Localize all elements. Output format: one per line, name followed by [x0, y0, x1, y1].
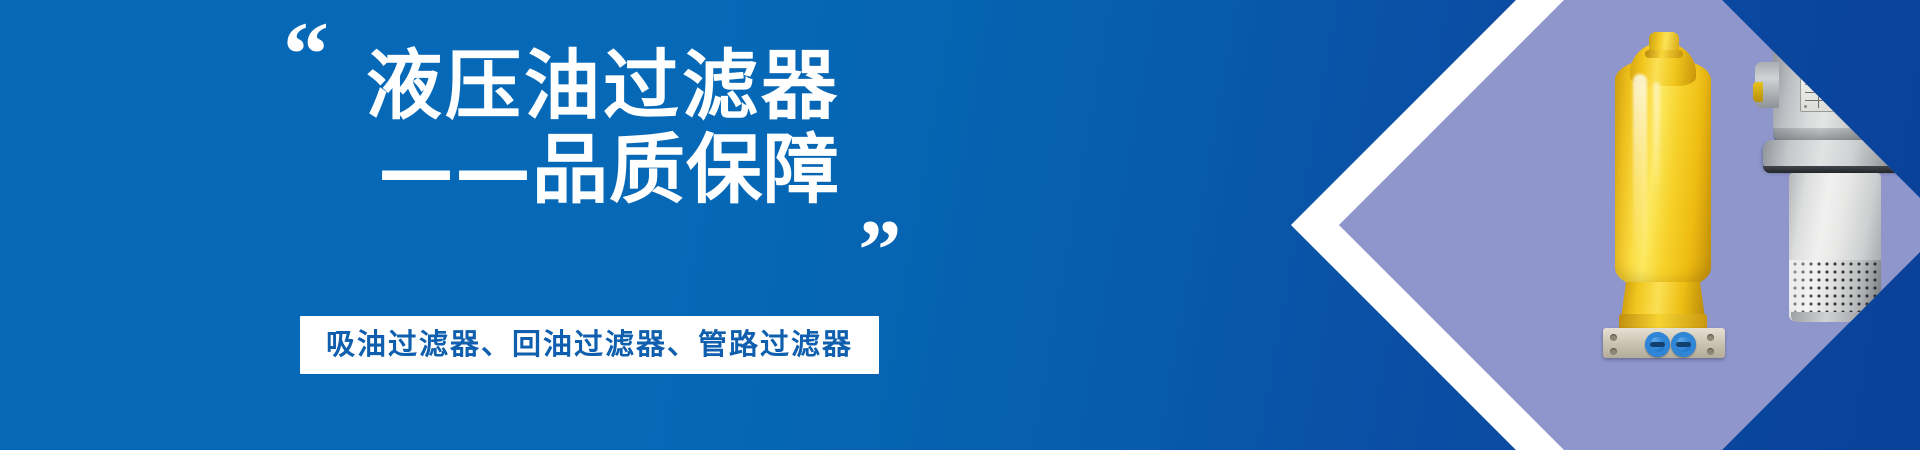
filter-neck-ring — [1645, 50, 1683, 58]
filter-body — [1615, 58, 1711, 290]
nameplate-rule — [1805, 92, 1863, 93]
nameplate-divider — [1818, 81, 1819, 108]
nameplate-screw — [1804, 76, 1807, 79]
housing-side-port-right — [1889, 70, 1911, 110]
red-cap — [1775, 0, 1893, 40]
banner-text-block: “ 液压油过滤器 ——品质保障 „ 吸油过滤器、回油过滤器、管路过滤器 — [0, 0, 920, 450]
mesh-shading — [1789, 260, 1881, 312]
port-slot — [1650, 342, 1665, 347]
headline-group: 液压油过滤器 ——品质保障 „ — [0, 44, 900, 212]
nameplate-title: 滤油器 — [1801, 74, 1867, 82]
oil-port-cap — [1645, 332, 1670, 357]
nameplate-screw — [1861, 76, 1864, 79]
nameplate-rule — [1805, 84, 1863, 85]
filter-head-housing — [1773, 40, 1895, 142]
flange-bolt-hole — [1610, 334, 1617, 341]
nameplate-screw — [1861, 105, 1864, 108]
filter-taper — [1621, 282, 1705, 318]
promo-banner: 滤油器 — [0, 0, 1920, 450]
product-image-suction-filter — [1599, 30, 1729, 360]
nameplate-screw — [1804, 105, 1807, 108]
filter-highlight-secondary — [1653, 82, 1660, 202]
close-quote-mark: „ — [859, 162, 902, 248]
nameplate-rule — [1805, 100, 1863, 101]
flange-bolt-hole — [1707, 334, 1714, 341]
red-cap-ridge — [1793, 0, 1875, 8]
headline-line-1: 液压油过滤器 — [0, 44, 840, 128]
oil-port-cap — [1671, 332, 1696, 357]
subtitle-box: 吸油过滤器、回油过滤器、管路过滤器 — [300, 316, 879, 374]
headline-line-2: ——品质保障 — [0, 128, 840, 212]
tube-bottom-cap — [1791, 312, 1879, 322]
flange-gasket — [1763, 166, 1905, 173]
subtitle-text: 吸油过滤器、回油过滤器、管路过滤器 — [326, 327, 853, 361]
product-image-return-filter: 滤油器 — [1753, 0, 1918, 340]
housing-yellow-plug — [1753, 82, 1763, 102]
product-nameplate: 滤油器 — [1800, 72, 1868, 112]
filter-highlight — [1633, 74, 1647, 264]
flange-bolt-hole — [1707, 348, 1714, 355]
flange-bolt-hole — [1610, 348, 1617, 355]
diamond-stage: 滤油器 — [1020, 0, 1920, 450]
product-photo-area: 滤油器 — [1339, 0, 1920, 450]
port-slot — [1676, 342, 1691, 347]
red-cap-lip — [1769, 30, 1899, 43]
